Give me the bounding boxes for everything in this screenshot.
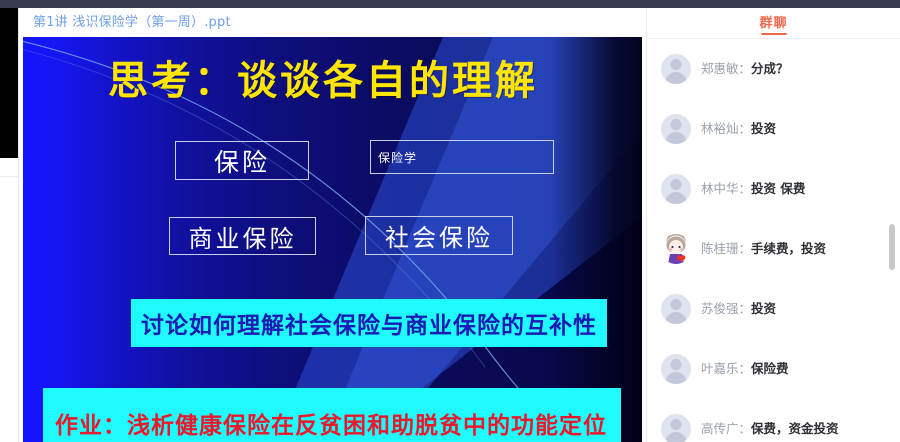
- chat-message-text: 林中华：投资 保费: [701, 180, 805, 198]
- chat-message[interactable]: 苏俊强：投资: [647, 279, 900, 339]
- chat-message-sender: 陈桂珊：: [701, 241, 751, 256]
- tab-group-chat[interactable]: 群聊: [647, 12, 900, 31]
- chat-tab-bar: 群聊: [647, 8, 900, 39]
- chat-message[interactable]: 叶嘉乐：保险费: [647, 339, 900, 399]
- presentation-slide[interactable]: 思考：谈谈各自的理解 保险 保险学 商业保险 社会保险 讨论如何理解社会保险与商…: [23, 37, 642, 442]
- box-insurance-studies: 保险学: [370, 140, 554, 174]
- default-avatar-icon[interactable]: [661, 414, 691, 442]
- chat-message-body: 分成？: [751, 61, 789, 76]
- document-title: 第1讲 浅识保险学（第一周）.ppt: [33, 14, 231, 32]
- discussion-banner: 讨论如何理解社会保险与商业保险的互补性: [131, 299, 607, 347]
- chat-message-body: 保险费: [751, 361, 789, 376]
- chat-message-sender: 叶嘉乐：: [701, 361, 751, 376]
- chat-scrollbar-thumb[interactable]: [889, 224, 895, 270]
- homework-banner: 作业：浅析健康保险在反贫困和助脱贫中的功能定位（要求: [43, 388, 621, 442]
- chat-message-text: 陈桂珊：手续费，投资: [701, 240, 826, 258]
- default-avatar-icon[interactable]: [661, 174, 691, 204]
- default-avatar-icon[interactable]: [661, 354, 691, 384]
- default-avatar-icon[interactable]: [661, 294, 691, 324]
- chat-message-body: 投资: [751, 121, 776, 136]
- chat-message[interactable]: 林中华：投资 保费: [647, 159, 900, 219]
- box-social-insurance-label: 社会保险: [385, 218, 493, 253]
- chat-message-text: 高传广：保费，资金投资: [701, 420, 839, 438]
- chat-message[interactable]: 高传广：保费，资金投资: [647, 399, 900, 442]
- tab-group-chat-label: 群聊: [759, 16, 787, 31]
- chat-message-list[interactable]: 郑惠敏：分成？林裕灿：投资林中华：投资 保费陈桂珊：手续费，投资苏俊强：投资叶嘉…: [647, 39, 900, 442]
- chat-message-sender: 林裕灿：: [701, 121, 751, 136]
- chat-scrollbar-track[interactable]: [890, 39, 898, 440]
- app-root: 第1讲 浅识保险学（第一周）.ppt 思考：谈谈各自的理解 保险 保险学: [0, 0, 900, 442]
- chat-message-text: 林裕灿：投资: [701, 120, 776, 138]
- chat-message-text: 苏俊强：投资: [701, 300, 776, 318]
- chat-message-text: 叶嘉乐：保险费: [701, 360, 789, 378]
- box-insurance-studies-label: 保险学: [378, 149, 417, 166]
- left-dark-rail: [0, 8, 18, 158]
- chat-message-body: 保费，资金投资: [751, 421, 839, 436]
- chat-message-sender: 林中华：: [701, 181, 751, 196]
- default-avatar-icon[interactable]: [661, 54, 691, 84]
- default-avatar-icon[interactable]: [661, 114, 691, 144]
- box-commercial-insurance: 商业保险: [169, 217, 316, 255]
- box-social-insurance: 社会保险: [365, 216, 513, 255]
- chat-message-sender: 高传广：: [701, 421, 751, 436]
- document-viewer: 第1讲 浅识保险学（第一周）.ppt 思考：谈谈各自的理解 保险 保险学: [18, 8, 646, 442]
- chat-message-body: 投资 保费: [751, 181, 805, 196]
- box-commercial-insurance-label: 商业保险: [189, 219, 297, 254]
- window-top-bar: [0, 0, 900, 8]
- chat-message-body: 手续费，投资: [751, 241, 826, 256]
- custom-cartoon-avatar[interactable]: [661, 234, 691, 264]
- box-insurance: 保险: [175, 141, 309, 180]
- chat-message-text: 郑惠敏：分成？: [701, 60, 789, 78]
- chat-message-body: 投资: [751, 301, 776, 316]
- chat-message[interactable]: 陈桂珊：手续费，投资: [647, 219, 900, 279]
- chat-message-sender: 郑惠敏：: [701, 61, 751, 76]
- chat-message-sender: 苏俊强：: [701, 301, 751, 316]
- chat-message[interactable]: 郑惠敏：分成？: [647, 39, 900, 99]
- chat-message[interactable]: 林裕灿：投资: [647, 99, 900, 159]
- tab-active-indicator: [761, 33, 787, 35]
- chat-panel: 群聊 郑惠敏：分成？林裕灿：投资林中华：投资 保费陈桂珊：手续费，投资苏俊强：投…: [646, 8, 900, 442]
- homework-banner-text: 作业：浅析健康保险在反贫困和助脱贫中的功能定位（要求: [55, 406, 621, 440]
- discussion-banner-text: 讨论如何理解社会保险与商业保险的互补性: [141, 306, 597, 340]
- box-insurance-label: 保险: [214, 143, 270, 179]
- slide-title: 思考：谈谈各自的理解: [23, 56, 623, 106]
